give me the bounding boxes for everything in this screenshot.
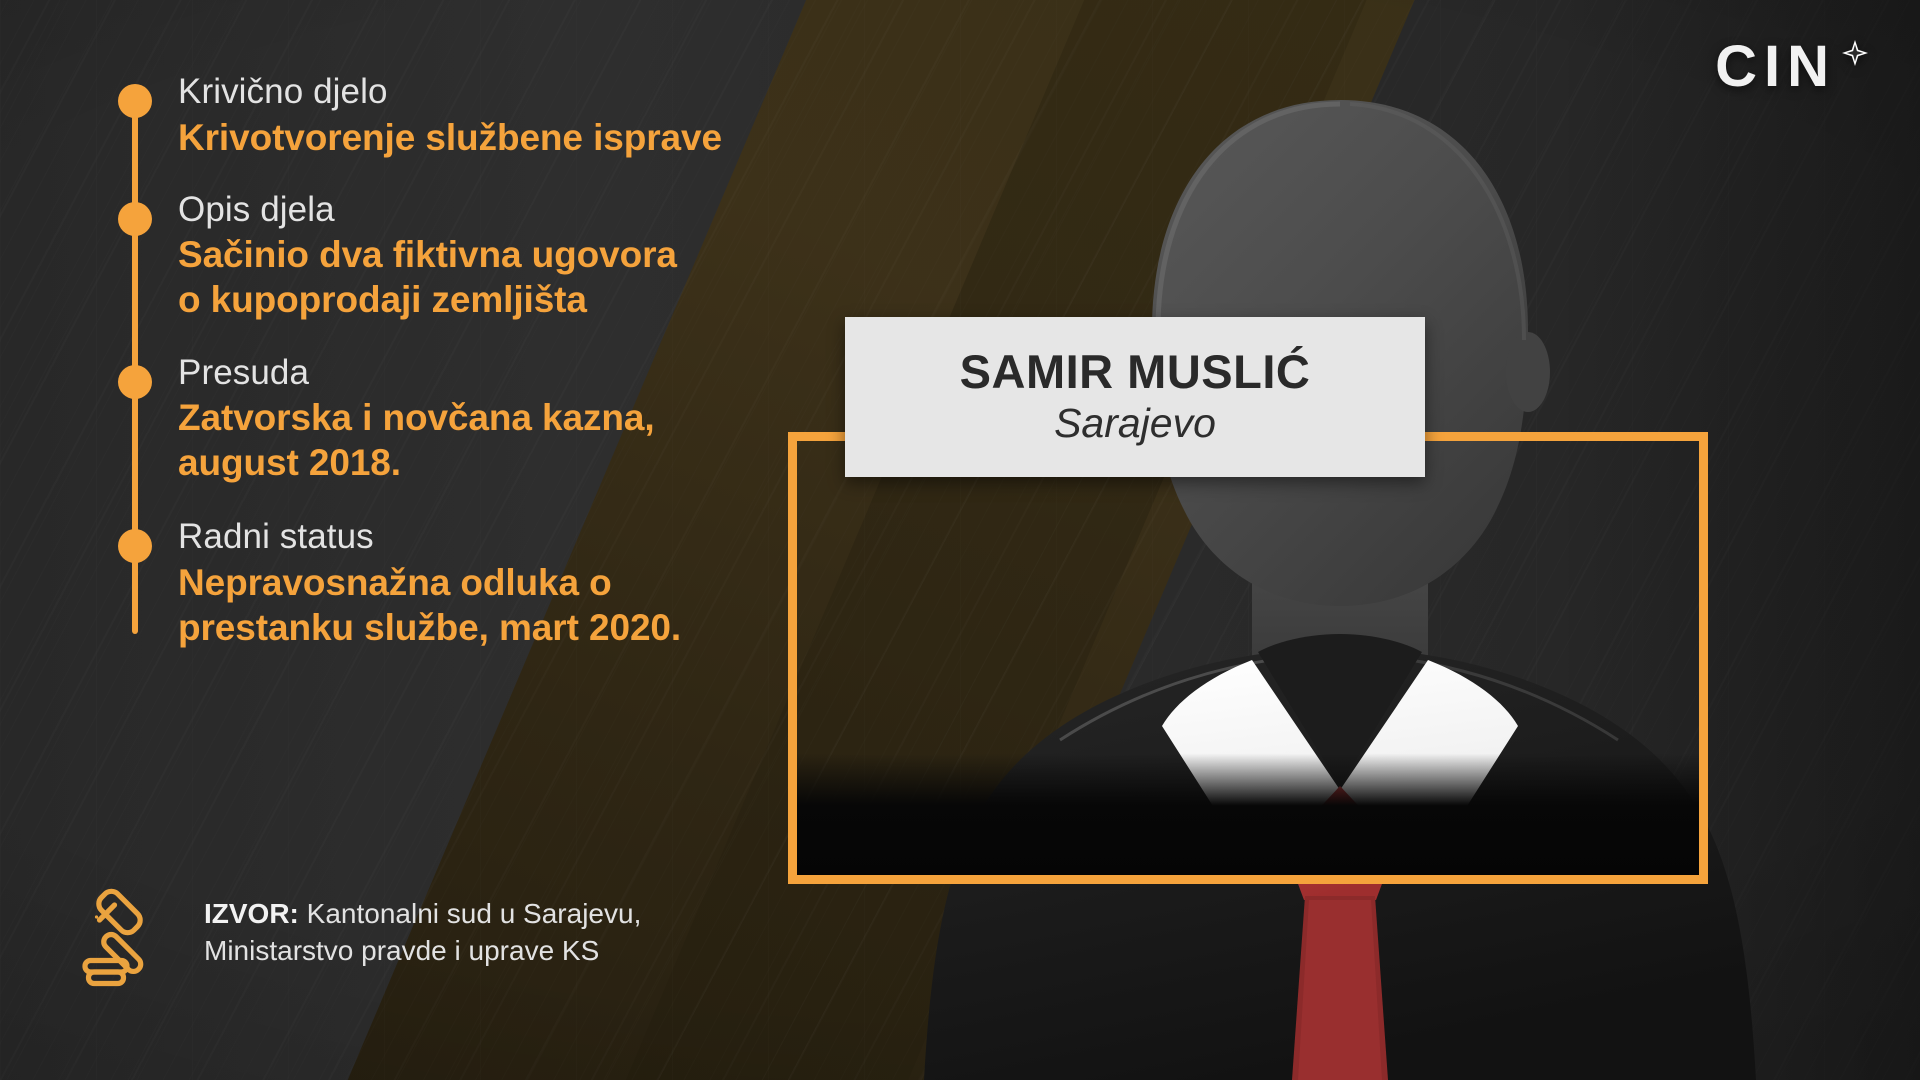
photo-frame-shade [797,441,1699,875]
timeline-item-label: Presuda [178,353,758,394]
timeline-item-krivicno-djelo: Krivično djelo Krivotvorenje službene is… [118,72,758,160]
timeline-item-label: Krivično djelo [178,72,758,113]
gavel-icon [74,884,178,993]
person-name: SAMIR MUSLIĆ [960,347,1311,396]
source-line-2: Ministarstvo pravde i uprave KS [204,935,599,966]
timeline-item-radni-status: Radni status Nepravosnažna odluka o pres… [118,517,758,650]
portrait-area: SAMIR MUSLIĆ Sarajevo [760,0,1920,1080]
timeline-item-presuda: Presuda Zatvorska i novčana kazna, augus… [118,353,758,486]
timeline-item-label: Opis djela [178,190,758,231]
timeline-item-value: Nepravosnažna odluka o prestanku službe,… [178,560,758,650]
source-attribution: IZVOR: Kantonalni sud u Sarajevu, Minist… [74,880,754,993]
source-prefix: IZVOR: [204,898,299,929]
name-plate: SAMIR MUSLIĆ Sarajevo [845,317,1425,477]
timeline-item-opis-djela: Opis djela Sačinio dva fiktivna ugovora … [118,190,758,323]
timeline-item-label: Radni status [178,517,758,558]
source-line-1: Kantonalni sud u Sarajevu, [299,898,641,929]
source-text: IZVOR: Kantonalni sud u Sarajevu, Minist… [204,880,641,970]
timeline-item-value: Zatvorska i novčana kazna, august 2018. [178,395,758,485]
timeline-item-value: Sačinio dva fiktivna ugovora o kupoproda… [178,232,758,322]
person-city: Sarajevo [1054,401,1216,447]
timeline-bullet-dot [118,365,152,399]
timeline-bullet-dot [118,202,152,236]
timeline: Krivično djelo Krivotvorenje službene is… [118,72,758,650]
photo-frame [788,432,1708,884]
timeline-item-value: Krivotvorenje službene isprave [178,115,758,160]
timeline-bullet-dot [118,84,152,118]
timeline-bullet-dot [118,529,152,563]
